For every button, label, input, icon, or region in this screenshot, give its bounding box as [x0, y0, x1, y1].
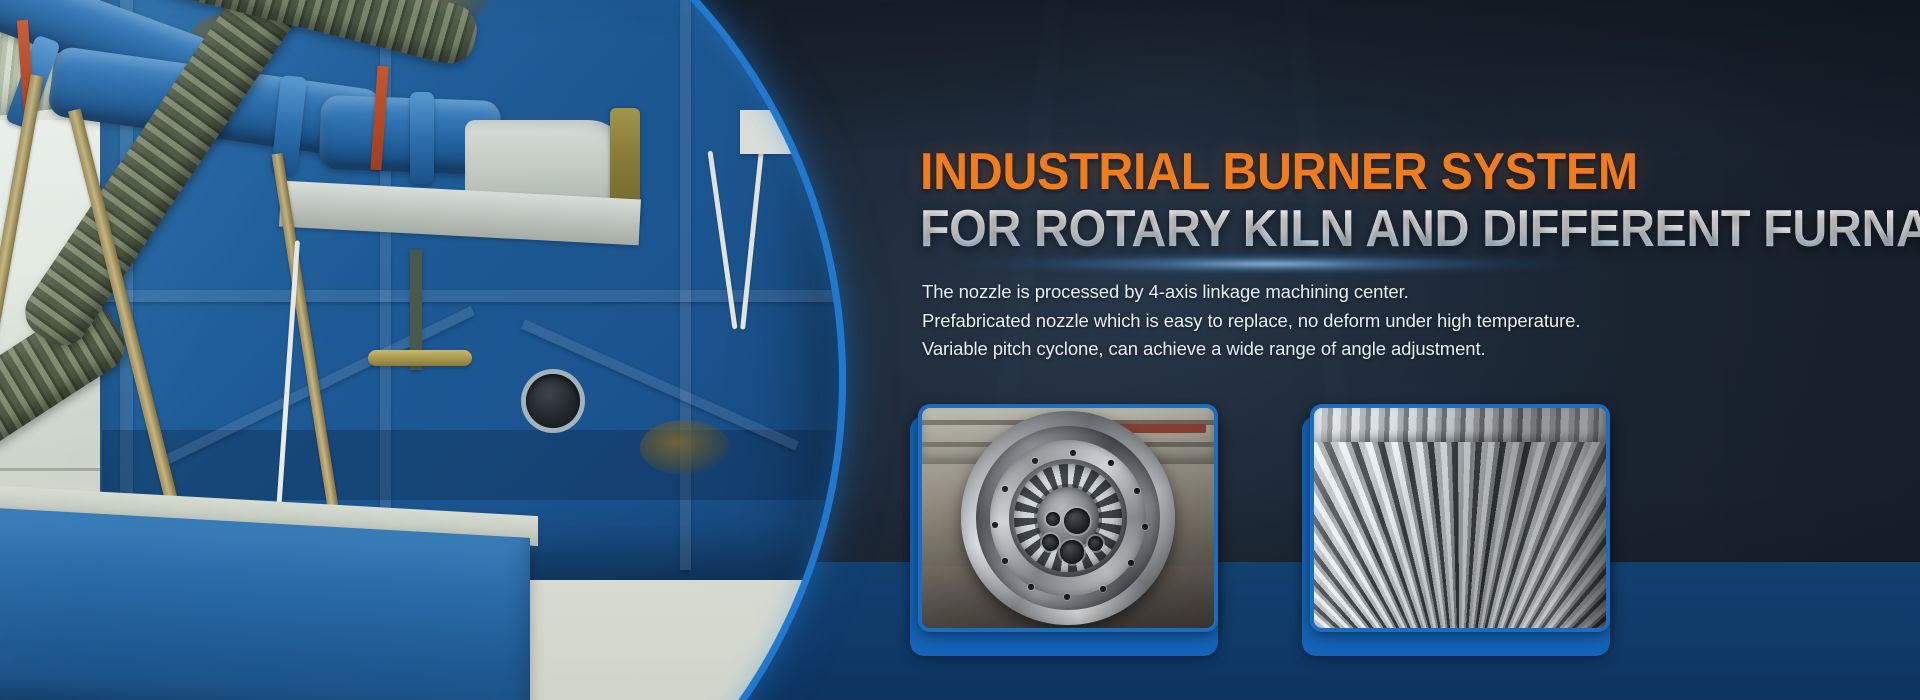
description-line-1: The nozzle is processed by 4-axis linkag… — [922, 278, 1682, 307]
thumbnail-gallery — [918, 404, 1638, 664]
thumbnail-color-grade — [922, 408, 1214, 628]
thumbnail-frame — [918, 404, 1218, 632]
vane-specular-highlight — [1314, 408, 1606, 628]
headline-glow-streak — [890, 251, 1680, 277]
headline-secondary: FOR ROTARY KILN AND DIFFERENT FURNACES — [920, 199, 1920, 259]
photo-circle-arc-stroke — [0, 0, 902, 700]
thumbnail-cyclone-vanes[interactable] — [1310, 404, 1618, 644]
headline-primary: INDUSTRIAL BURNER SYSTEM — [920, 142, 1638, 202]
description-line-2: Prefabricated nozzle which is easy to re… — [922, 307, 1682, 336]
description-block: The nozzle is processed by 4-axis linkag… — [922, 278, 1682, 364]
description-line-3: Variable pitch cyclone, can achieve a wi… — [922, 335, 1682, 364]
thumbnail-nozzle-head[interactable] — [918, 404, 1226, 644]
burner-nozzle-head-photo — [922, 408, 1214, 628]
headline-secondary-wrap: FOR ROTARY KILN AND DIFFERENT FURNACES — [920, 199, 1920, 263]
thumbnail-frame — [1310, 404, 1610, 632]
variable-pitch-cyclone-vanes-photo — [1314, 408, 1606, 628]
hero-banner: INDUSTRIAL BURNER SYSTEM FOR ROTARY KILN… — [0, 0, 1920, 700]
